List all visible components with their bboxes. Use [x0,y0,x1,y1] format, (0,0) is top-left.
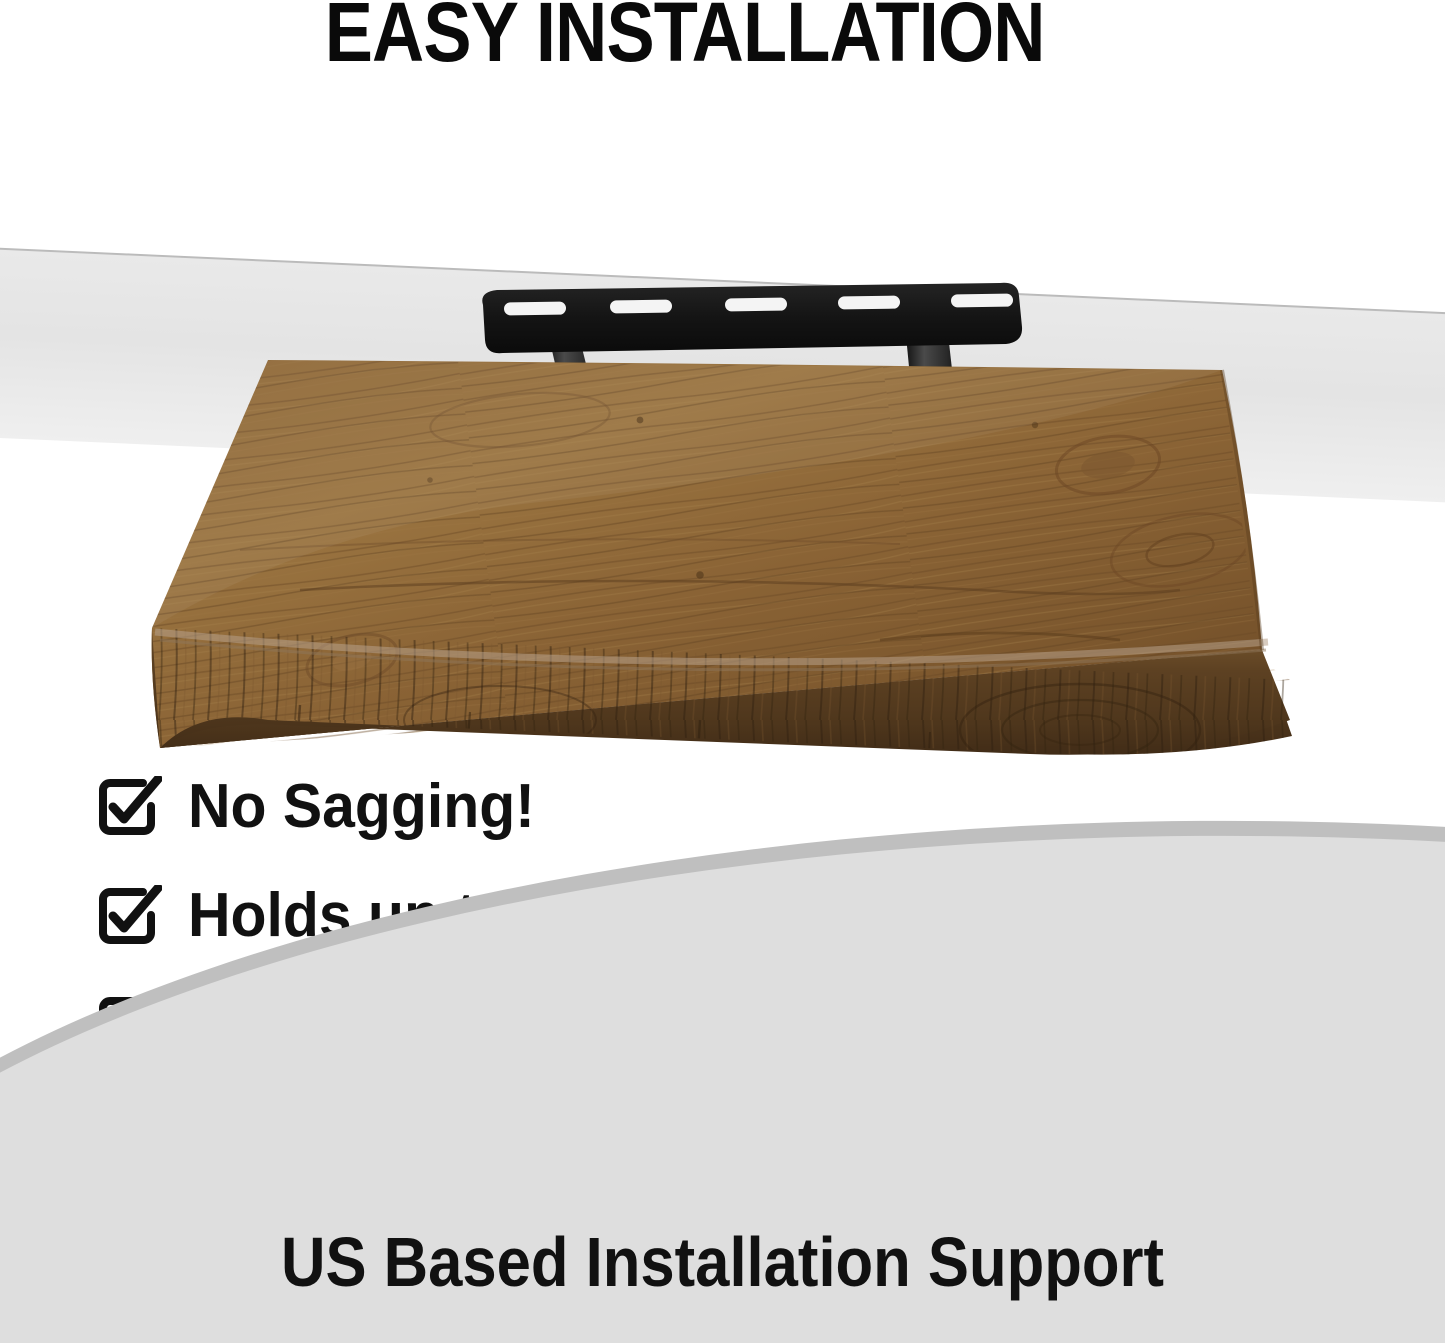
footer-label: US Based Installation Support [87,1222,1359,1302]
wood-shelf [0,120,1445,760]
checkbox-checked-icon [96,994,162,1056]
checkbox-checked-icon [96,885,162,947]
list-item-label: Holds up to 50 Lbs! [188,880,734,951]
list-item-label: No Sagging! [188,771,535,842]
list-item-label: Just Slides Right On! [188,989,784,1060]
list-item: No Sagging! [96,752,996,861]
list-item: Just Slides Right On! [96,970,996,1079]
feature-list: No Sagging! Holds up to 50 Lbs! Just Sli… [96,752,996,1079]
page-title: EASY INSTALLATION [101,0,1344,81]
product-feature-card: EASY INSTALLATION [0,0,1445,1343]
product-photo [0,120,1445,760]
checkbox-checked-icon [96,776,162,838]
list-item: Holds up to 50 Lbs! [96,861,996,970]
